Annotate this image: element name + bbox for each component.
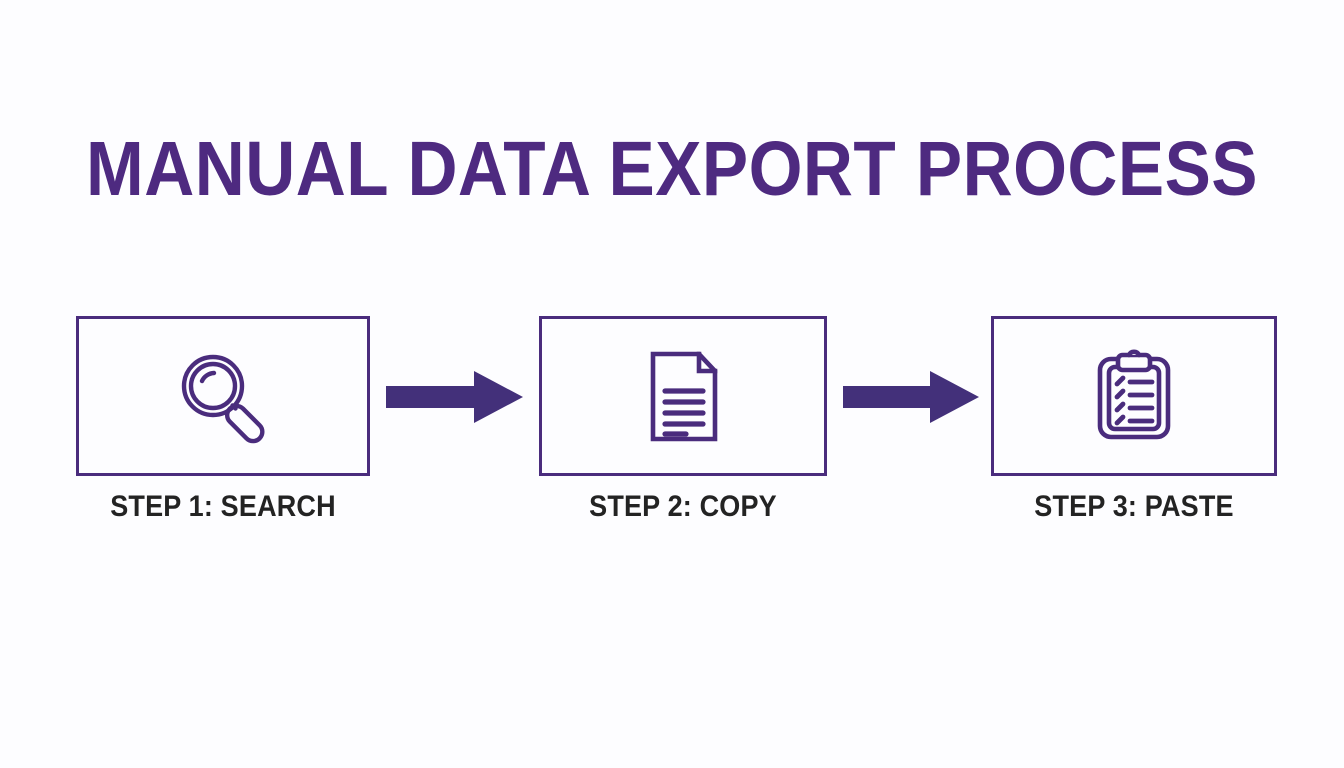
clipboard-checklist-icon: [1080, 342, 1188, 450]
arrow-right-2: [843, 371, 979, 423]
step-2-box[interactable]: [539, 316, 827, 476]
arrow-right-1: [386, 371, 523, 423]
page-title: MANUAL DATA EXPORT PROCESS: [67, 131, 1277, 208]
arrow-right-icon: [386, 371, 523, 423]
step-3-group: STEP 3: PASTE: [991, 316, 1277, 524]
slide-canvas: MANUAL DATA EXPORT PROCESS STEP 1: SEARC…: [0, 0, 1344, 768]
step-3-box[interactable]: [991, 316, 1277, 476]
document-icon: [631, 344, 735, 448]
step-2-group: STEP 2: COPY: [539, 316, 827, 524]
magnifying-glass-icon: [169, 342, 277, 450]
step-1-group: STEP 1: SEARCH: [76, 316, 370, 524]
arrow-right-icon: [843, 371, 979, 423]
step-1-box[interactable]: [76, 316, 370, 476]
step-1-label: STEP 1: SEARCH: [91, 490, 356, 524]
step-2-label: STEP 2: COPY: [553, 490, 812, 524]
step-3-label: STEP 3: PASTE: [1005, 490, 1262, 524]
